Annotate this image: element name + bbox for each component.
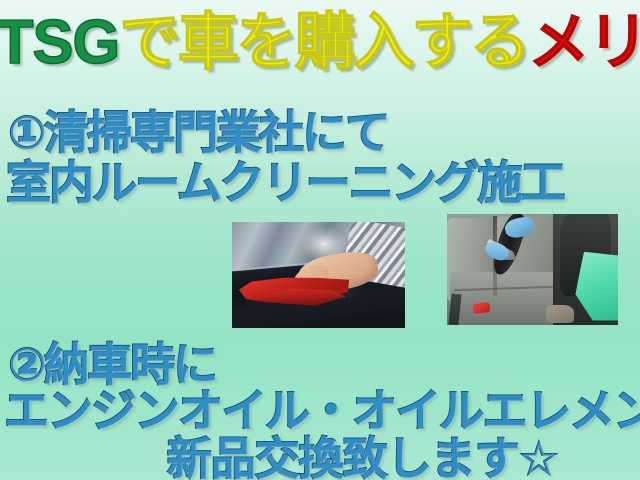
exterior-waxing-photo xyxy=(232,222,405,328)
photo-grain xyxy=(232,222,405,328)
photo-grain xyxy=(447,214,618,325)
promotional-poster: TSGで車を購入するメリット ①清掃専門業社にて 室内ルームクリーニング施工 xyxy=(0,0,640,480)
interior-seat-cleaning-photo xyxy=(447,214,618,325)
title-middle-text: で車を購入する xyxy=(119,5,528,78)
benefit-one-line-two: 室内ルームクリーニング施工 xyxy=(6,146,564,211)
benefit-two-line-three: 新品交換致します☆ xyxy=(167,422,558,480)
title-brand-text: TSG xyxy=(0,8,119,77)
title-accent-text: メリット xyxy=(528,5,640,78)
page-title: TSGで車を購入するメリット xyxy=(0,6,638,82)
